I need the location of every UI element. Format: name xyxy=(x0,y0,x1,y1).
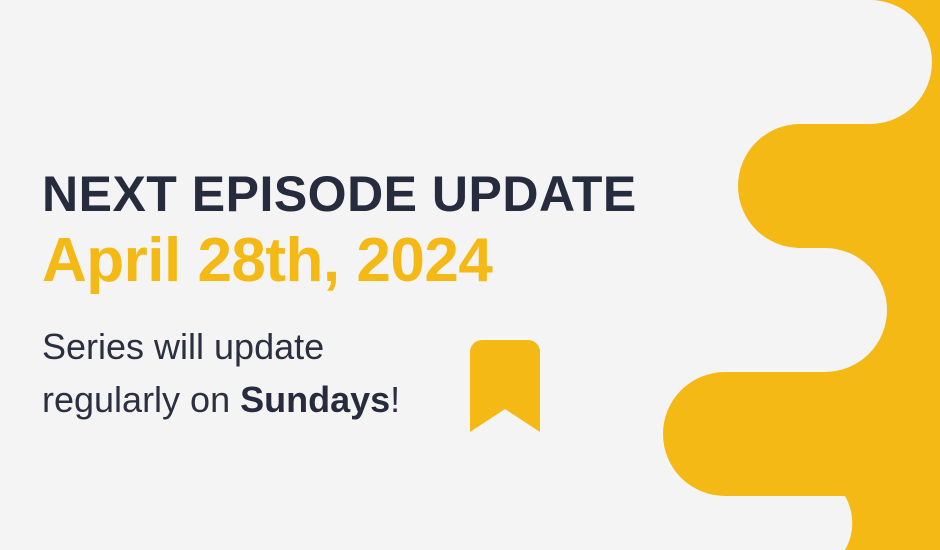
schedule-note-suffix: ! xyxy=(390,379,400,420)
bookmark-icon-svg xyxy=(470,340,540,432)
bookmark-shape-path xyxy=(470,340,540,432)
episode-date: April 28th, 2024 xyxy=(42,229,682,293)
wave-shape-path xyxy=(663,0,940,550)
schedule-note-line-2: regularly on Sundays! xyxy=(42,374,400,426)
schedule-note: Series will update regularly on Sundays! xyxy=(42,321,400,425)
next-episode-update-banner: NEXT EPISODE UPDATE April 28th, 2024 Ser… xyxy=(0,0,940,550)
schedule-note-day: Sundays xyxy=(240,379,390,420)
text-block: NEXT EPISODE UPDATE April 28th, 2024 Ser… xyxy=(42,168,682,426)
schedule-note-prefix: regularly on xyxy=(42,379,240,420)
schedule-note-line-1: Series will update xyxy=(42,321,400,373)
bookmark-icon xyxy=(470,340,540,432)
page-title: NEXT EPISODE UPDATE xyxy=(42,168,682,221)
subtitle-wrap: Series will update regularly on Sundays! xyxy=(42,321,682,425)
